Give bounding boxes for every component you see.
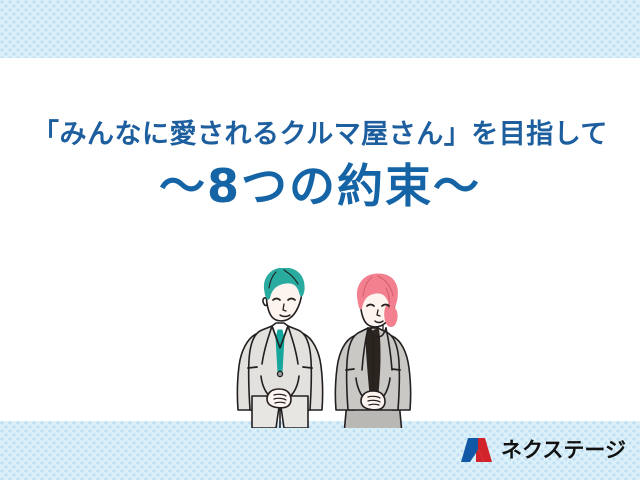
- female-staff-figure: [335, 274, 410, 428]
- top-dot-band: [0, 0, 640, 58]
- two-people-bowing-illustration: [228, 268, 424, 428]
- promo-banner: 「みんなに愛されるクルマ屋さん」を目指して 〜8つの約束〜: [0, 0, 640, 480]
- brand-logo: ネクステージ: [460, 434, 626, 466]
- headline-line-1: 「みんなに愛されるクルマ屋さん」を目指して: [0, 118, 640, 152]
- headline: 「みんなに愛されるクルマ屋さん」を目指して 〜8つの約束〜: [0, 118, 640, 213]
- brand-wordmark: ネクステージ: [501, 440, 626, 461]
- male-staff-figure: [237, 268, 322, 428]
- headline-line-2: 〜8つの約束〜: [0, 160, 640, 213]
- nextage-n-mark-icon: [460, 437, 494, 463]
